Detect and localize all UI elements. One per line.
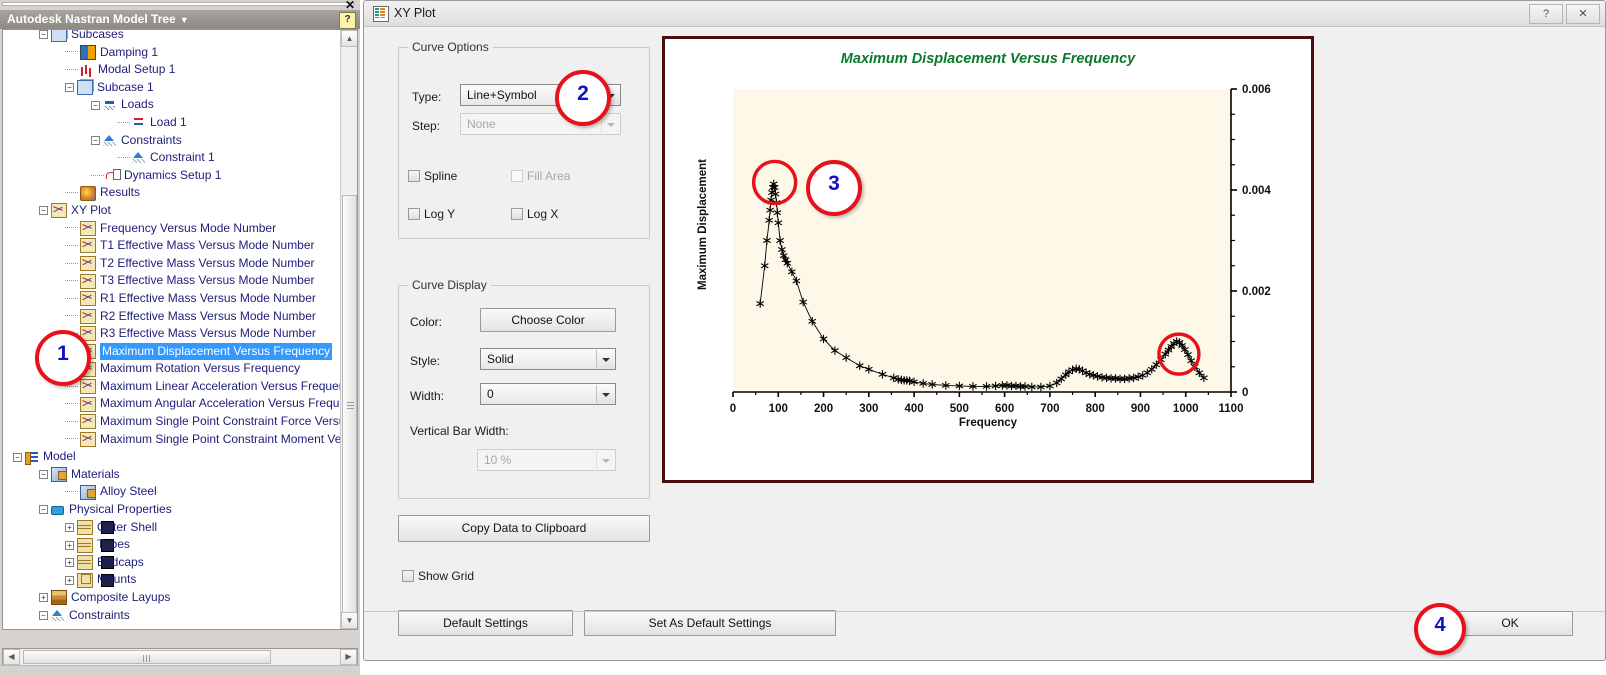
chevron-down-icon[interactable] — [596, 385, 614, 403]
tree-connector — [65, 69, 78, 71]
spline-checkbox[interactable]: Spline — [408, 169, 457, 183]
tree-connector — [65, 491, 78, 493]
tree-item-label: Maximum Angular Acceleration Versus Freq… — [100, 395, 340, 413]
help-icon[interactable]: ? — [339, 12, 356, 29]
tree-hscroll-thumb[interactable] — [23, 650, 271, 664]
expand-icon[interactable]: + — [65, 523, 74, 532]
expand-icon[interactable]: + — [65, 541, 74, 550]
dialog-close-button[interactable]: ✕ — [1566, 4, 1600, 24]
tree-item-label: Loads — [121, 96, 154, 114]
tree-node-icon — [77, 538, 93, 553]
tree-item[interactable]: +Mounts — [3, 571, 340, 589]
chart-frame: Maximum Displacement Versus Frequency Ma… — [662, 36, 1314, 483]
tree-connector — [65, 51, 78, 53]
tree-vscroll-thumb[interactable] — [342, 195, 357, 615]
panel-top-strip: ✕ — [0, 0, 360, 10]
tree-connector — [65, 280, 78, 282]
tree-item[interactable]: −Loads — [3, 96, 340, 114]
choose-color-button[interactable]: Choose Color — [480, 308, 616, 332]
tree-item-label: Maximum Displacement Versus Frequency — [100, 343, 332, 361]
curve-type-value: Line+Symbol — [467, 88, 537, 102]
step-value: None — [467, 117, 496, 131]
xy-plot-icon — [80, 432, 96, 447]
dialog-help-button[interactable]: ? — [1529, 4, 1563, 24]
xy-plot-icon — [80, 309, 96, 324]
tree-item-label: Mounts — [97, 571, 136, 589]
log-x-label: Log X — [527, 207, 558, 221]
tree-item[interactable]: +Composite Layups — [3, 589, 340, 607]
tree-node-icon — [77, 520, 93, 535]
tree-item[interactable]: Maximum Angular Acceleration Versus Freq… — [3, 395, 340, 413]
tree-item[interactable]: Results — [3, 184, 340, 202]
tree-item-label: Model — [43, 448, 76, 466]
default-settings-button[interactable]: Default Settings — [398, 610, 573, 636]
fill-area-checkbox[interactable]: Fill Area — [511, 169, 570, 183]
tree-connector — [65, 263, 78, 265]
y-tick-label: 0.004 — [1242, 185, 1271, 197]
tree-connector — [91, 175, 104, 177]
tree-connector — [65, 315, 78, 317]
x-tick-label: 700 — [1040, 403, 1059, 415]
tree-item-label: Constraint 1 — [150, 149, 215, 167]
tree-item-label: Materials — [71, 466, 120, 484]
tree-node-icon — [77, 573, 93, 588]
tree-node-icon — [80, 186, 96, 201]
tree-connector — [65, 438, 78, 440]
show-grid-label: Show Grid — [418, 569, 474, 583]
collapse-icon[interactable]: − — [39, 206, 48, 215]
tree-item[interactable]: −Model — [3, 448, 340, 466]
tree-item[interactable]: −Subcases — [3, 30, 340, 44]
dialog-title-text: XY Plot — [394, 6, 435, 20]
xy-plot-icon — [80, 397, 96, 412]
checkbox-box[interactable] — [511, 208, 523, 220]
scroll-down-icon[interactable]: ▼ — [341, 612, 358, 629]
tree-node-icon — [80, 485, 96, 500]
tree-item[interactable]: +Tubes — [3, 536, 340, 554]
chevron-down-icon — [596, 451, 614, 469]
style-select[interactable]: Solid — [480, 348, 616, 370]
tree-horizontal-scrollbar[interactable]: ◀ ▶ — [2, 648, 358, 666]
tree-connector — [65, 245, 78, 247]
vertical-bar-width-value: 10 % — [484, 453, 511, 467]
style-value: Solid — [487, 352, 514, 366]
tree-connector — [117, 122, 130, 124]
model-tree-title-bar[interactable]: Autodesk Nastran Model Tree▼ — [0, 10, 360, 29]
collapse-icon[interactable]: − — [39, 470, 48, 479]
tree-item-label: Frequency Versus Mode Number — [100, 220, 276, 238]
y-tick-label: 0.006 — [1242, 84, 1271, 96]
x-tick-label: 500 — [950, 403, 969, 415]
checkbox-box[interactable] — [408, 208, 420, 220]
tree-item[interactable]: −Subcase 1 — [3, 79, 340, 97]
tree-node-icon — [132, 151, 146, 164]
tree-item-label: Outer Shell — [97, 519, 157, 537]
tree-connector — [65, 298, 78, 300]
expand-icon[interactable]: + — [65, 558, 74, 567]
collapse-icon[interactable]: − — [39, 30, 48, 39]
x-tick-label: 600 — [995, 403, 1014, 415]
tree-node-icon — [51, 467, 67, 482]
tree-vertical-scrollbar[interactable]: ▲ ▼ — [340, 30, 357, 629]
tree-item[interactable]: Alloy Steel — [3, 483, 340, 501]
tree-connector — [65, 227, 78, 229]
tree-connector — [65, 192, 78, 194]
x-tick-label: 400 — [904, 403, 923, 415]
log-y-checkbox[interactable]: Log Y — [408, 207, 455, 221]
tree-item[interactable]: Load 1 — [3, 114, 340, 132]
x-tick-label: 100 — [769, 403, 788, 415]
tree-connector — [65, 421, 78, 423]
tree-item[interactable]: Frequency Versus Mode Number — [3, 220, 340, 238]
tree-connector — [117, 157, 130, 159]
tree-item-label: Endcaps — [97, 554, 144, 572]
tree-item-label: Dynamics Setup 1 — [124, 167, 221, 185]
callout-4: 4 — [1414, 603, 1466, 655]
chevron-down-icon[interactable]: ▼ — [180, 11, 189, 30]
tree-node-icon — [103, 99, 117, 112]
tree-node-icon — [77, 80, 93, 95]
tree-item-label: Maximum Rotation Versus Frequency — [100, 360, 300, 378]
callout-1: 1 — [35, 330, 91, 386]
highlight-ring-low-frequency — [754, 161, 796, 203]
curve-options-caption: Curve Options — [408, 40, 493, 54]
tree-node-icon — [80, 64, 94, 77]
tree-item-label: T1 Effective Mass Versus Mode Number — [100, 237, 315, 255]
tree-item-label: Damping 1 — [100, 44, 158, 62]
chart-canvas: 01002003004005006007008009001000110000.0… — [665, 39, 1311, 480]
xy-plot-icon — [80, 291, 96, 306]
tree-item[interactable]: Dynamics Setup 1 — [3, 167, 340, 185]
collapse-icon[interactable]: − — [39, 611, 48, 620]
tree-item-label: Composite Layups — [71, 589, 170, 607]
tree-item-label: Results — [100, 184, 140, 202]
tree-item-label: R1 Effective Mass Versus Mode Number — [100, 290, 316, 308]
tree-node-icon — [103, 134, 117, 147]
tree-item[interactable]: Constraint 1 — [3, 149, 340, 167]
tree-node-icon — [51, 609, 65, 622]
tree-item-label: Maximum Single Point Constraint Force Ve… — [100, 413, 340, 431]
vertical-bar-width-select[interactable]: 10 % — [477, 449, 616, 471]
tree-item-label: Subcases — [71, 30, 124, 44]
callout-3: 3 — [806, 160, 862, 216]
tree-node-icon — [51, 503, 65, 516]
tree-item-label: Tubes — [97, 536, 130, 554]
tree-item[interactable]: Damping 1 — [3, 44, 340, 62]
show-grid-checkbox[interactable]: Show Grid — [402, 569, 474, 583]
style-label: Style: — [410, 354, 440, 368]
xy-plot-icon — [80, 256, 96, 271]
ok-button[interactable]: OK — [1447, 611, 1573, 636]
vertical-bar-width-label: Vertical Bar Width: — [410, 424, 509, 438]
tree-item-label: Maximum Single Point Constraint Moment V… — [100, 431, 340, 449]
xy-plot-icon — [80, 414, 96, 429]
width-value: 0 — [487, 387, 494, 401]
log-x-checkbox[interactable]: Log X — [511, 207, 558, 221]
tree-item-label: Subcase 1 — [97, 79, 154, 97]
fill-area-label: Fill Area — [527, 169, 570, 183]
scroll-up-icon[interactable]: ▲ — [341, 30, 358, 47]
chevron-down-icon[interactable] — [596, 350, 614, 368]
tree-item-label: Modal Setup 1 — [98, 61, 175, 79]
xy-plot-icon — [80, 379, 96, 394]
copy-data-to-clipboard-button[interactable]: Copy Data to Clipboard — [398, 515, 650, 542]
xy-plot-icon — [80, 238, 96, 253]
tree-item[interactable]: Maximum Single Point Constraint Force Ve… — [3, 413, 340, 431]
tree-item-label: Constraints — [121, 132, 182, 150]
xy-plot-icon — [373, 6, 389, 22]
collapse-icon[interactable]: − — [65, 83, 74, 92]
x-tick-label: 0 — [730, 403, 736, 415]
xy-plot-dialog: XY Plot ? ✕ Curve Options Type: Line+Sym… — [363, 0, 1606, 661]
expand-icon[interactable]: + — [65, 576, 74, 585]
model-tree-list: −SubcasesDamping 1Modal Setup 1−Subcase … — [3, 30, 340, 624]
checkbox-box[interactable] — [402, 570, 414, 582]
x-tick-label: 800 — [1086, 403, 1105, 415]
tree-item[interactable]: +Endcaps — [3, 554, 340, 572]
expand-icon[interactable]: + — [39, 593, 48, 602]
color-label: Color: — [410, 315, 442, 329]
x-tick-label: 900 — [1131, 403, 1150, 415]
tree-node-icon — [51, 590, 67, 605]
tree-item[interactable]: Modal Setup 1 — [3, 61, 340, 79]
tree-item-label: T3 Effective Mass Versus Mode Number — [100, 272, 315, 290]
type-label: Type: — [412, 90, 441, 104]
width-select[interactable]: 0 — [480, 383, 616, 405]
tree-node-icon — [106, 169, 120, 182]
tree-node-icon — [77, 555, 93, 570]
tree-item[interactable]: R2 Effective Mass Versus Mode Number — [3, 308, 340, 326]
collapse-icon[interactable]: − — [13, 453, 22, 462]
tree-connector — [65, 386, 78, 388]
y-tick-label: 0.002 — [1242, 286, 1271, 298]
width-label: Width: — [410, 389, 444, 403]
tree-item-label: Constraints — [69, 607, 130, 625]
tree-node-icon — [80, 45, 96, 60]
collapse-icon[interactable]: − — [91, 101, 100, 110]
scroll-right-icon[interactable]: ▶ — [340, 649, 357, 665]
tree-node-icon — [132, 116, 146, 129]
tree-node-icon — [25, 451, 39, 464]
panel-top-divider — [2, 2, 354, 6]
tree-item-label: XY Plot — [71, 202, 111, 220]
curve-display-caption: Curve Display — [408, 278, 491, 292]
tree-item-label: Alloy Steel — [100, 483, 157, 501]
set-as-default-settings-button[interactable]: Set As Default Settings — [584, 610, 836, 636]
xy-plot-icon — [80, 221, 96, 236]
tree-item-label: R2 Effective Mass Versus Mode Number — [100, 308, 316, 326]
tree-connector — [65, 403, 78, 405]
tree-item[interactable]: R1 Effective Mass Versus Mode Number — [3, 290, 340, 308]
tree-item[interactable]: −Constraints — [3, 132, 340, 150]
tree-item[interactable]: T3 Effective Mass Versus Mode Number — [3, 272, 340, 290]
tree-item-label: T2 Effective Mass Versus Mode Number — [100, 255, 315, 273]
xy-plot-icon — [80, 274, 96, 289]
tree-item[interactable]: −Constraints — [3, 607, 340, 625]
chevron-down-icon — [601, 115, 619, 133]
model-tree-scroll-area: −SubcasesDamping 1Modal Setup 1−Subcase … — [3, 30, 340, 629]
tree-item-label: Load 1 — [150, 114, 187, 132]
x-tick-label: 1100 — [1219, 403, 1244, 415]
model-tree-body: −SubcasesDamping 1Modal Setup 1−Subcase … — [2, 29, 358, 630]
step-label: Step: — [412, 119, 440, 133]
panel-bottom-strip — [0, 665, 360, 675]
y-tick-label: 0 — [1242, 387, 1248, 399]
tree-item[interactable]: T2 Effective Mass Versus Mode Number — [3, 255, 340, 273]
xy-plot-icon — [51, 203, 67, 218]
model-tree-panel: ✕ Autodesk Nastran Model Tree▼ ? −Subcas… — [0, 0, 360, 675]
x-tick-label: 1000 — [1173, 403, 1199, 415]
tree-item[interactable]: +Outer Shell — [3, 519, 340, 537]
x-tick-label: 200 — [814, 403, 833, 415]
collapse-icon[interactable]: − — [91, 136, 100, 145]
scroll-left-icon[interactable]: ◀ — [3, 649, 20, 665]
collapse-icon[interactable]: − — [39, 505, 48, 514]
tree-item[interactable]: −Materials — [3, 466, 340, 484]
callout-2: 2 — [555, 70, 611, 126]
checkbox-box[interactable] — [408, 170, 420, 182]
tree-item[interactable]: −XY Plot — [3, 202, 340, 220]
tree-item[interactable]: −Physical Properties — [3, 501, 340, 519]
x-tick-label: 300 — [859, 403, 878, 415]
tree-item[interactable]: Maximum Single Point Constraint Moment V… — [3, 431, 340, 449]
model-tree-title-text: Autodesk Nastran Model Tree — [7, 12, 176, 26]
tree-item-label: Physical Properties — [69, 501, 172, 519]
tree-item-label: Maximum Linear Acceleration Versus Frequ… — [100, 378, 340, 396]
tree-node-icon — [51, 30, 67, 42]
spline-label: Spline — [424, 169, 457, 183]
tree-item[interactable]: T1 Effective Mass Versus Mode Number — [3, 237, 340, 255]
log-y-label: Log Y — [424, 207, 455, 221]
dialog-title-bar: XY Plot ? ✕ — [364, 1, 1605, 27]
tree-item-label: R3 Effective Mass Versus Mode Number — [100, 325, 316, 343]
checkbox-box[interactable] — [511, 170, 523, 182]
